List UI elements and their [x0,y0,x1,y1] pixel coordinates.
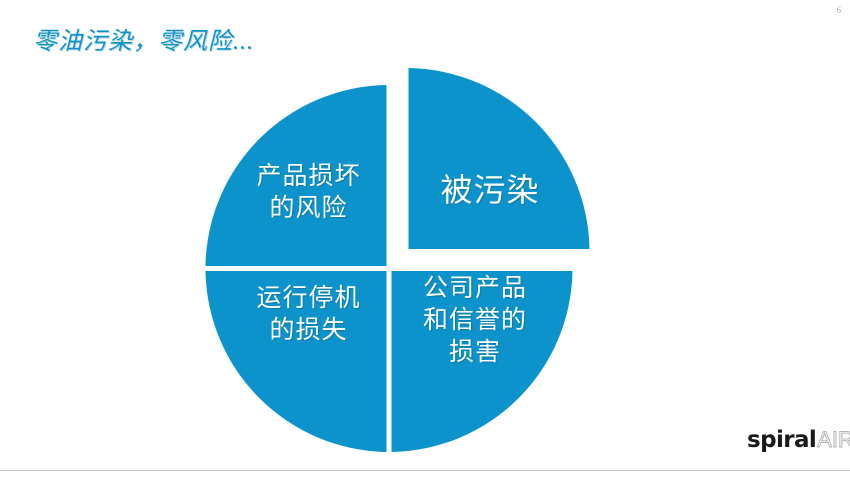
slide-canvas: 6 零油污染，零风险... 产品损坏 的风险 被污染 公司产品 和信誉的 损害 … [0,0,850,478]
pie-slice-top-left[interactable] [206,85,387,266]
pie-slice-bottom-right[interactable] [392,271,573,452]
pie-chart-svg [190,60,600,472]
page-title: 零油污染，零风险... [33,27,254,57]
logo-text-air: AIR [817,429,850,451]
spiralair-logo: spiral AIR [747,429,850,457]
page-number: 6 [837,5,842,16]
logo-text-spiral: spiral [747,429,816,452]
pie-chart: 产品损坏 的风险 被污染 公司产品 和信誉的 损害 运行停机 的损失 [190,60,600,472]
footer-divider [0,470,850,471]
pie-slice-top-right-exploded[interactable] [409,68,590,249]
pie-slice-bottom-left[interactable] [206,271,387,452]
